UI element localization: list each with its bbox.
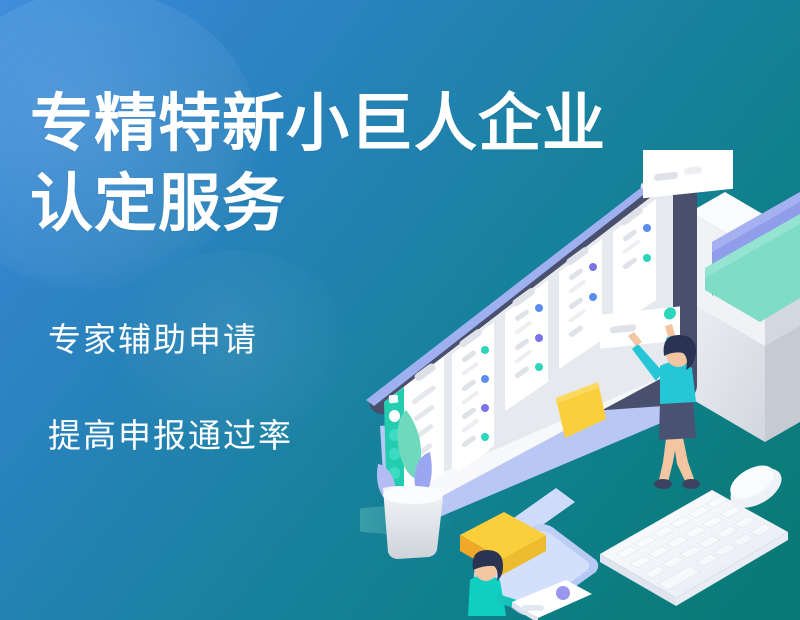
subhead-item-1: 专家辅助申请 xyxy=(48,320,293,360)
keyboard xyxy=(600,490,788,606)
subhead-list: 专家辅助申请 提高申报通过率 xyxy=(48,320,293,456)
page-title-line-1: 专精特新小巨人企业 xyxy=(30,84,800,164)
subhead-item-2: 提高申报通过率 xyxy=(48,416,293,456)
promo-banner: 专精特新小巨人企业 认定服务 专家辅助申请 提高申报通过率 xyxy=(0,0,800,620)
headline-block: 专精特新小巨人企业 认定服务 xyxy=(30,84,800,244)
page-title-line-2: 认定服务 xyxy=(30,164,800,244)
